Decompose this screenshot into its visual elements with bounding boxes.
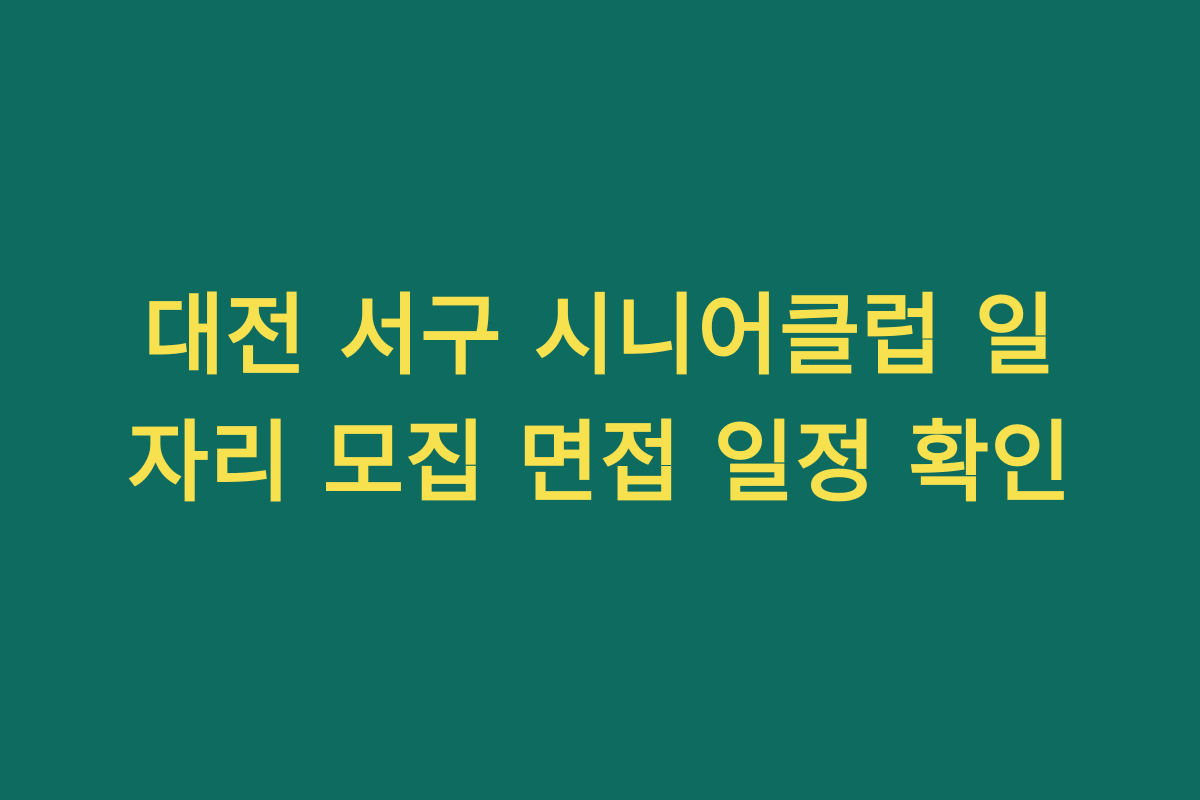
- headline-block: 대전 서구 시니어클럽 일 자리 모집 면접 일정 확인: [70, 274, 1130, 526]
- headline-line-1: 대전 서구 시니어클럽 일: [70, 274, 1130, 399]
- text-banner: 대전 서구 시니어클럽 일 자리 모집 면접 일정 확인: [0, 0, 1200, 800]
- headline-line-2: 자리 모집 면접 일정 확인: [70, 401, 1130, 526]
